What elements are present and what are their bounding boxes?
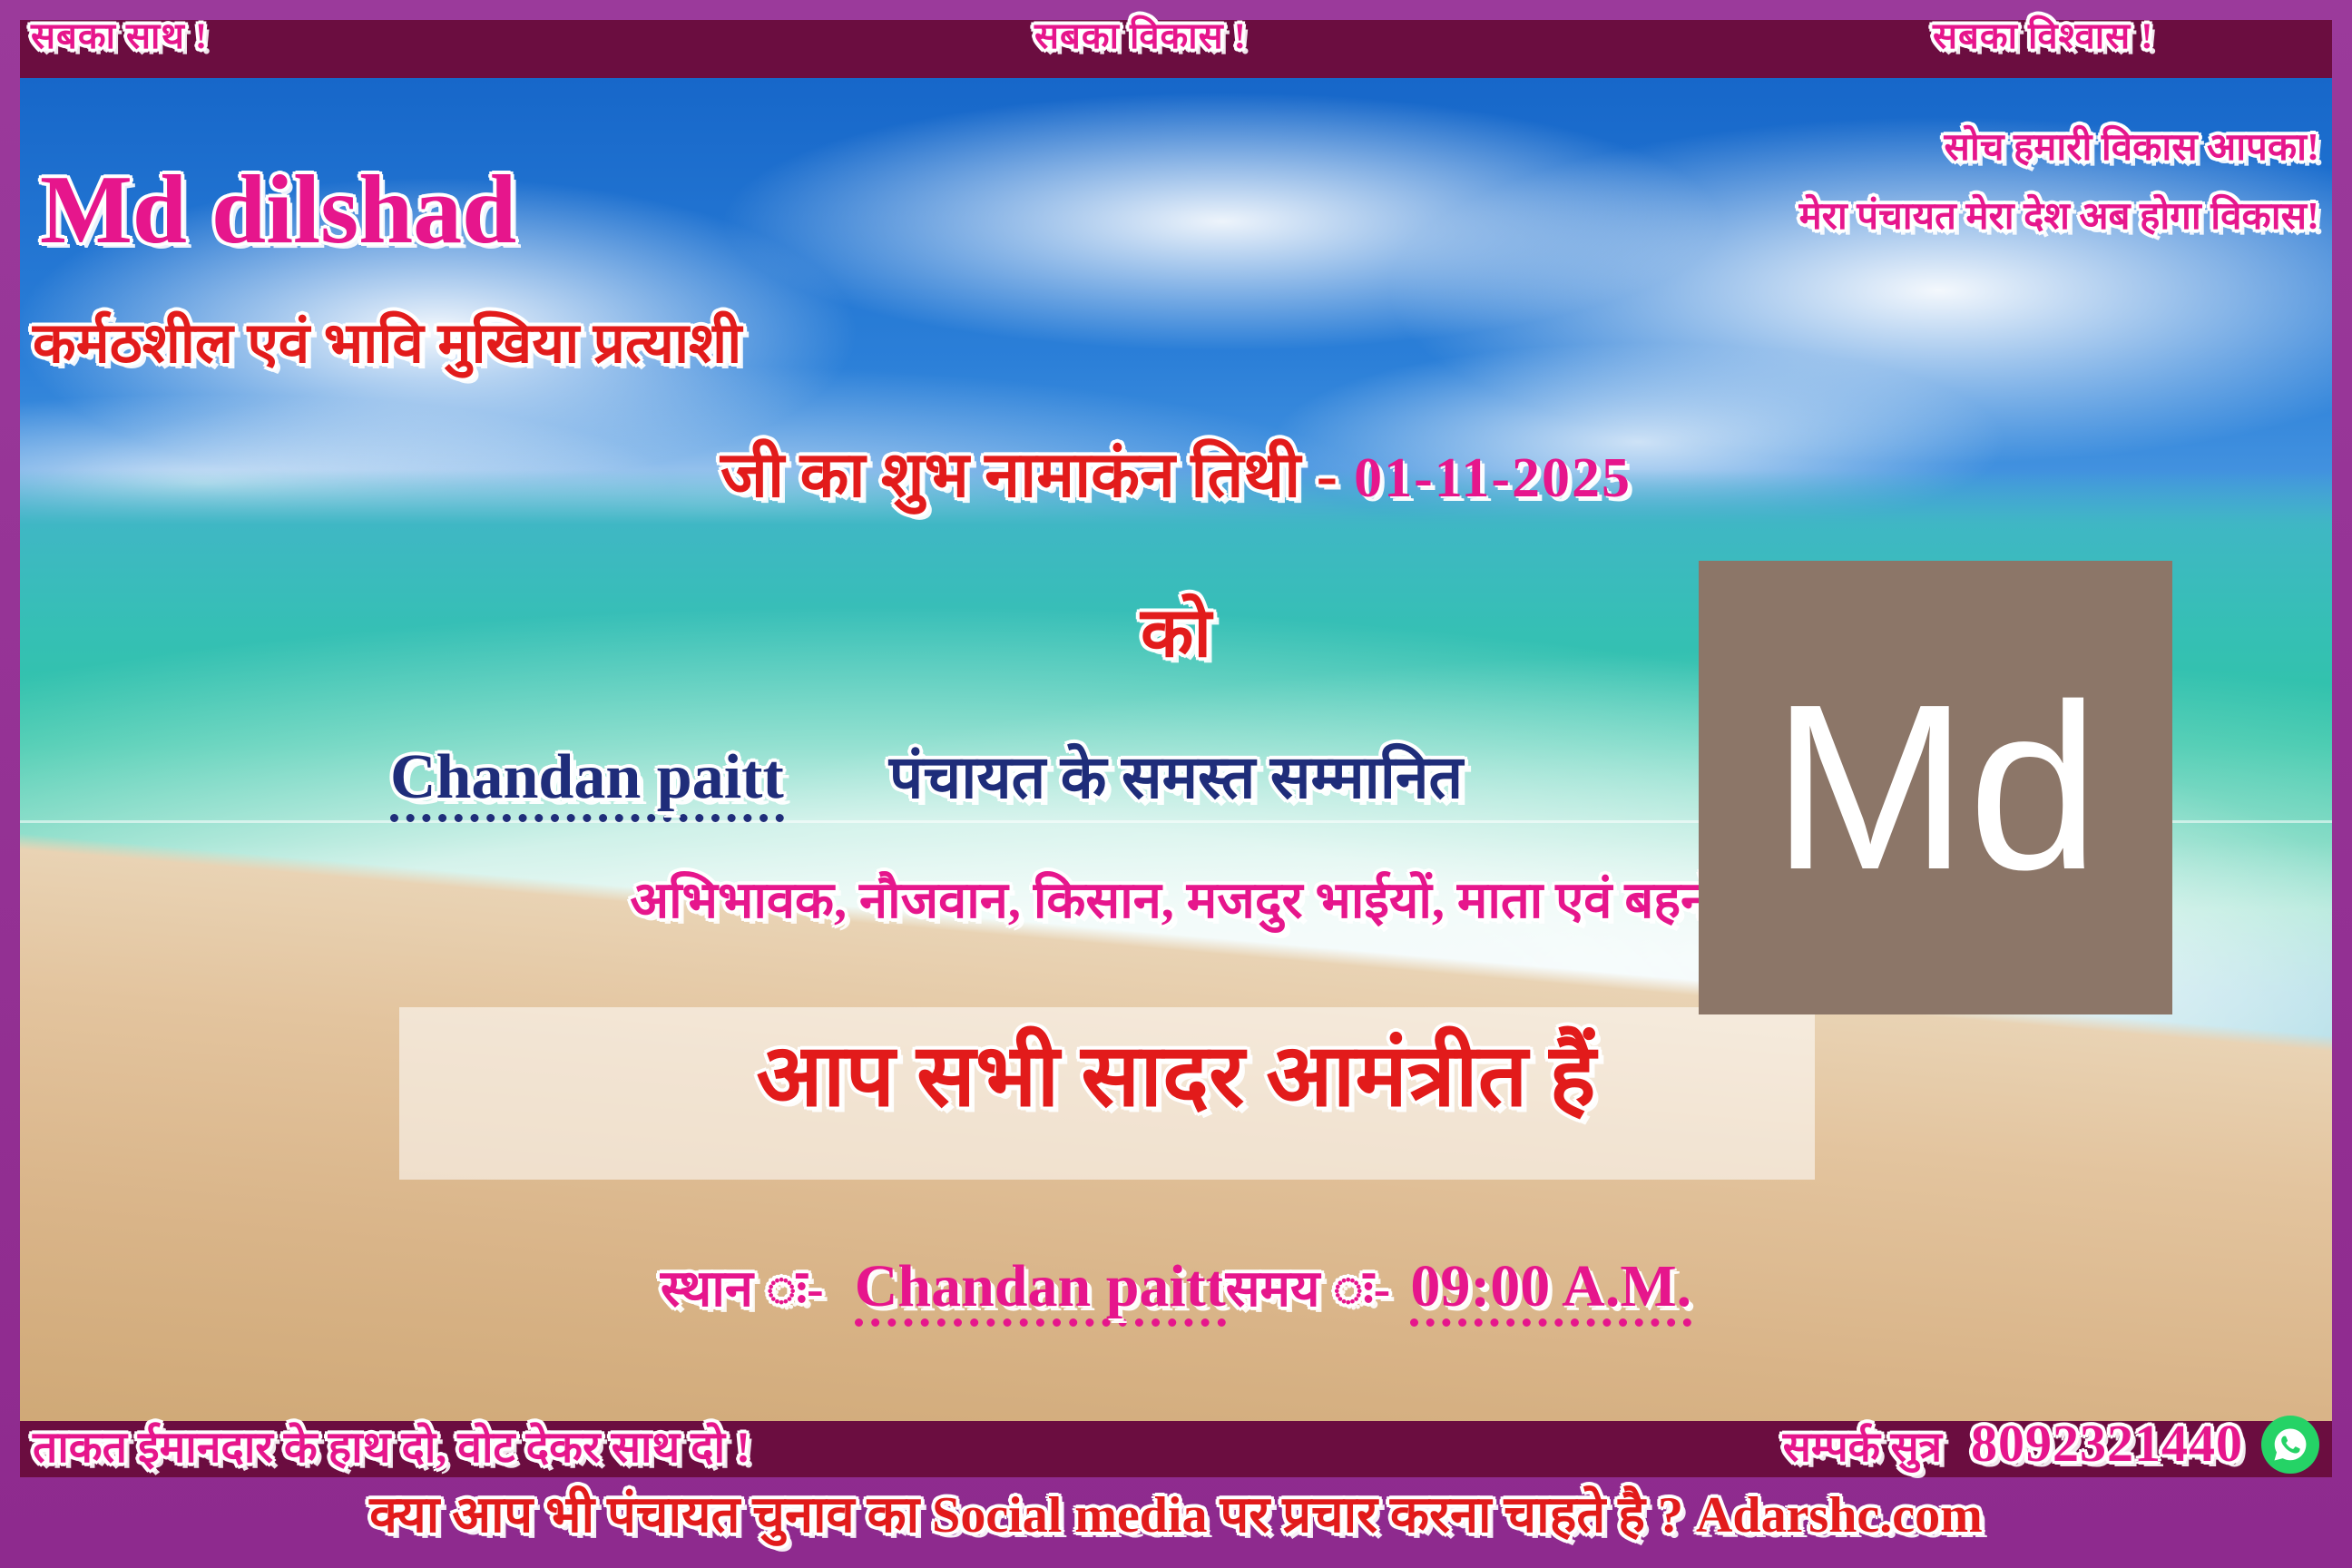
contact-number[interactable]: 8092321440 <box>1971 1417 2243 1470</box>
top-right-slogan-line2: मेरा पंचायत मेरा देश अब होगा विकास! <box>1799 198 2319 236</box>
nomination-label: जी का शुभ नामाकंन तिथी - <box>720 445 1338 508</box>
whatsapp-icon[interactable] <box>2261 1416 2319 1474</box>
contact-label: सम्पर्क सुत्र <box>1783 1426 1942 1468</box>
panchayat-name-value: Chandan paitt <box>390 742 784 822</box>
candidate-photo-placeholder[interactable]: Md <box>1699 561 2172 1014</box>
place-value[interactable]: Chandan paitt <box>855 1257 1226 1327</box>
nomination-date-value: 01-11-2025 <box>1354 450 1632 506</box>
time-label: समय ः- <box>1226 1264 1391 1315</box>
place-label: स्थान ः- <box>661 1264 824 1315</box>
candidate-name: Md dilshad <box>40 162 516 260</box>
avatar-initials: Md <box>1771 670 2099 906</box>
invitation-text: आप सभी सादर आमंत्रीत हैं <box>0 1033 2352 1120</box>
nomination-date-line: जी का शुभ नामाकंन तिथी - 01-11-2025 <box>0 445 2352 508</box>
candidate-subtitle: कर्मठशील एवं भावि मुखिया प्रत्याशी <box>33 316 741 372</box>
place-time-line: स्थान ः- Chandan paitt समय ः- 09:00 A.M. <box>0 1257 2352 1327</box>
panchayat-name-field[interactable]: Chandan paitt <box>390 746 784 809</box>
footer-slogan: ताकत ईमानदार के हाथ दो, वोट देकर साथ दो … <box>33 1426 750 1470</box>
contact-group: सम्पर्क सुत्र 8092321440 <box>1783 1417 2243 1470</box>
election-poster: सबका साथ ! सबका विकास ! सबका विश्वास ! M… <box>0 0 2352 1568</box>
time-value[interactable]: 09:00 A.M. <box>1410 1257 1691 1327</box>
slogan-sabka-vishwas: सबका विश्वास ! <box>1933 18 2154 54</box>
promo-text: क्या आप भी पंचायत चुनाव का Social media … <box>0 1490 2352 1541</box>
slogan-sabka-saath: सबका साथ ! <box>31 18 208 54</box>
top-right-slogan-line1: सोच हमारी विकास आपका! <box>1945 129 2319 167</box>
slogan-sabka-vikas: सबका विकास ! <box>1034 18 1247 54</box>
